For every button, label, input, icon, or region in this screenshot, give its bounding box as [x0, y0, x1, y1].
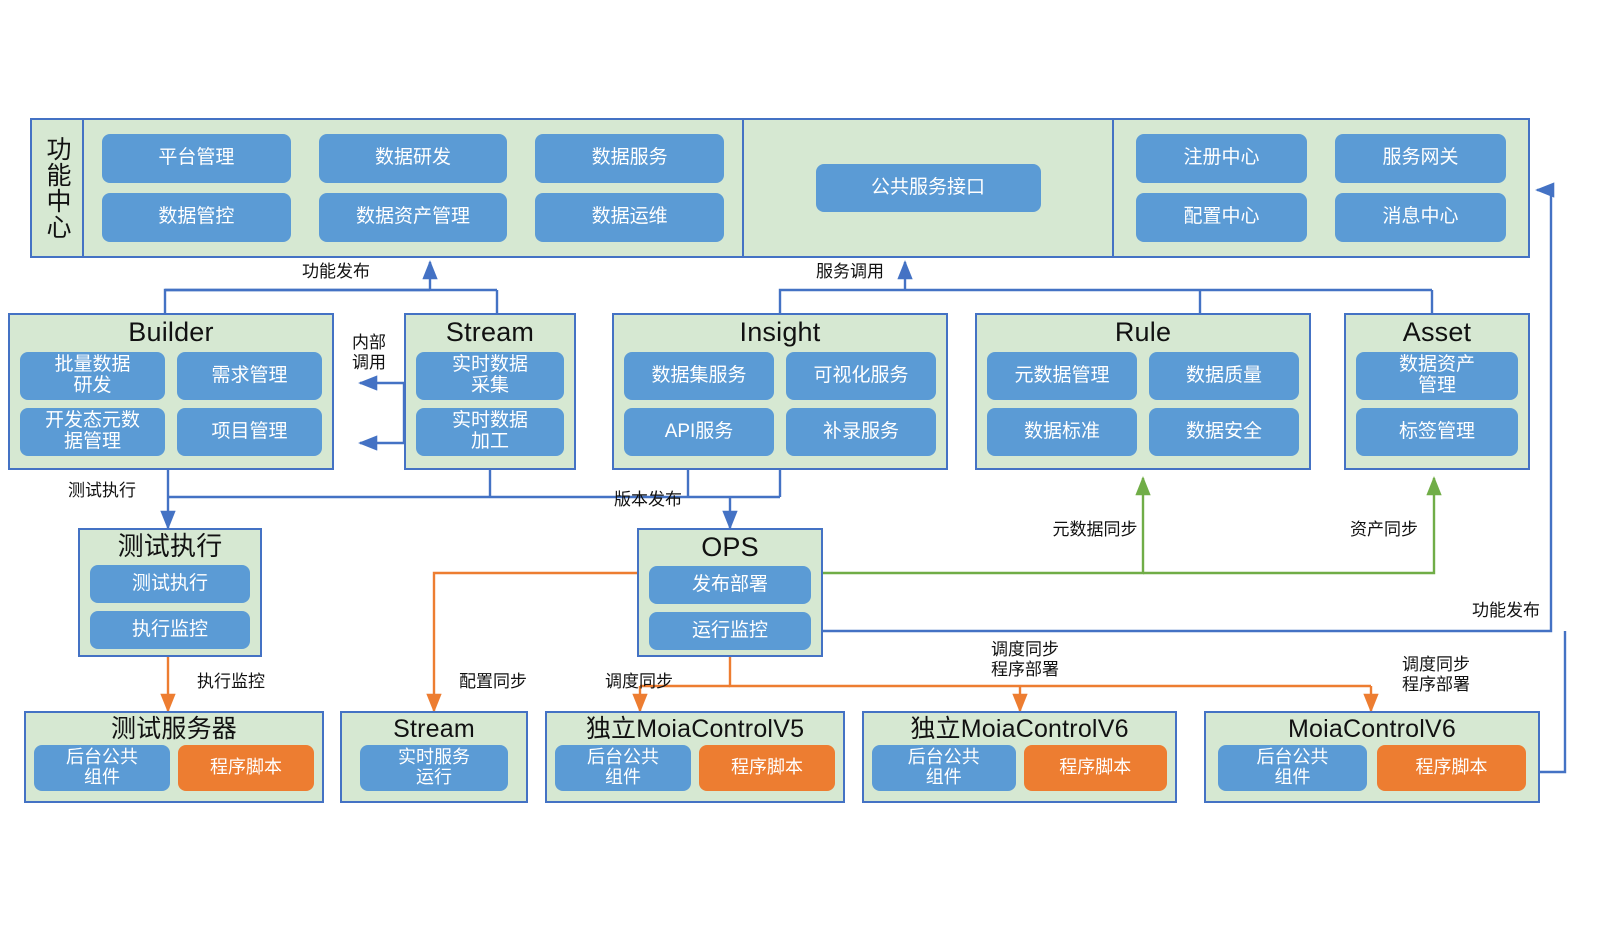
- insight-item-supplement-service[interactable]: 补录服务: [786, 408, 936, 456]
- label-exec-monitor: 执行监控: [176, 672, 286, 692]
- module-builder-title: Builder: [10, 315, 332, 346]
- module-test-execution: 测试执行 测试执行 执行监控: [78, 528, 262, 657]
- rule-item-metadata-mgmt[interactable]: 元数据管理: [987, 352, 1137, 400]
- fc-item-data-ops[interactable]: 数据运维: [535, 193, 724, 242]
- module-stream: Stream 实时数据 采集 实时数据 加工: [404, 313, 576, 470]
- builder-item-dev-metadata-mgmt[interactable]: 开发态元数 据管理: [20, 408, 165, 456]
- moia-v6-std-item-common-component[interactable]: 后台公共 组件: [872, 745, 1016, 791]
- moia-v6-item-script[interactable]: 程序脚本: [1377, 745, 1526, 791]
- server-test-server-title: 测试服务器: [26, 713, 322, 742]
- stream-server-item-realtime-run[interactable]: 实时服务 运行: [360, 745, 508, 791]
- server-stream: Stream 实时服务 运行: [340, 711, 528, 803]
- label-feature-publish-right: 功能发布: [1420, 601, 1540, 621]
- fc-item-platform-mgmt[interactable]: 平台管理: [102, 134, 291, 183]
- architecture-diagram: 功能中心 平台管理 数据研发 数据服务 数据管控 数据资产管理 数据运维 公共服…: [0, 0, 1611, 940]
- label-config-sync: 配置同步: [443, 672, 543, 692]
- test-server-item-common-component[interactable]: 后台公共 组件: [34, 745, 170, 791]
- module-ops-title: OPS: [639, 530, 821, 561]
- moia-v5-item-common-component[interactable]: 后台公共 组件: [555, 745, 691, 791]
- wire-builder-to-bus: [165, 290, 497, 313]
- fc-item-message-center[interactable]: 消息中心: [1335, 193, 1506, 242]
- server-moiacontrol-v6-standalone-title: 独立MoiaControlV6: [864, 713, 1175, 742]
- label-asset-sync: 资产同步: [1330, 520, 1438, 540]
- server-moiacontrol-v5-standalone: 独立MoiaControlV5 后台公共 组件 程序脚本: [545, 711, 845, 803]
- module-test-execution-title: 测试执行: [80, 530, 260, 560]
- fc-item-data-asset-mgmt[interactable]: 数据资产管理: [319, 193, 508, 242]
- fc-item-service-gateway[interactable]: 服务网关: [1335, 134, 1506, 183]
- module-asset-title: Asset: [1346, 315, 1528, 346]
- fc-item-config-center[interactable]: 配置中心: [1136, 193, 1307, 242]
- fc-item-public-service-api[interactable]: 公共服务接口: [816, 164, 1041, 212]
- insight-item-api-service[interactable]: API服务: [624, 408, 774, 456]
- insight-item-dataset-service[interactable]: 数据集服务: [624, 352, 774, 400]
- label-service-call: 服务调用: [795, 262, 905, 282]
- server-moiacontrol-v6-standalone: 独立MoiaControlV6 后台公共 组件 程序脚本: [862, 711, 1177, 803]
- label-feature-publish-top: 功能发布: [281, 262, 391, 282]
- server-moiacontrol-v6-title: MoiaControlV6: [1206, 713, 1538, 742]
- test-exec-item-run[interactable]: 测试执行: [90, 565, 250, 603]
- function-center-left-group: 平台管理 数据研发 数据服务 数据管控 数据资产管理 数据运维: [82, 120, 742, 256]
- module-asset: Asset 数据资产 管理 标签管理: [1344, 313, 1530, 470]
- ops-item-runtime-monitor[interactable]: 运行监控: [649, 612, 811, 650]
- label-test-execute: 测试执行: [68, 481, 178, 501]
- fc-item-data-dev[interactable]: 数据研发: [319, 134, 508, 183]
- stream-item-realtime-collect[interactable]: 实时数据 采集: [416, 352, 564, 400]
- ops-item-release-deploy[interactable]: 发布部署: [649, 566, 811, 604]
- server-moiacontrol-v6: MoiaControlV6 后台公共 组件 程序脚本: [1204, 711, 1540, 803]
- server-stream-title: Stream: [342, 713, 526, 742]
- stream-item-realtime-process[interactable]: 实时数据 加工: [416, 408, 564, 456]
- function-center-middle-group: 公共服务接口: [742, 120, 1112, 256]
- asset-item-data-asset-mgmt[interactable]: 数据资产 管理: [1356, 352, 1518, 400]
- function-center-label: 功能中心: [32, 120, 82, 256]
- fc-item-data-service[interactable]: 数据服务: [535, 134, 724, 183]
- function-center-right-group: 注册中心 服务网关 配置中心 消息中心: [1112, 120, 1528, 256]
- module-insight-title: Insight: [614, 315, 946, 346]
- module-stream-title: Stream: [406, 315, 574, 346]
- module-insight: Insight 数据集服务 可视化服务 API服务 补录服务: [612, 313, 948, 470]
- wire-server-up-right: [1540, 631, 1565, 772]
- label-metadata-sync: 元数据同步: [1035, 520, 1155, 540]
- label-schedule-deploy-right: 调度同步 程序部署: [1376, 655, 1496, 695]
- label-internal-call: 内部 调用: [338, 333, 400, 373]
- builder-item-batch-data-dev[interactable]: 批量数据 研发: [20, 352, 165, 400]
- fc-item-registry-center[interactable]: 注册中心: [1136, 134, 1307, 183]
- builder-item-requirement-mgmt[interactable]: 需求管理: [177, 352, 322, 400]
- moia-v6-std-item-script[interactable]: 程序脚本: [1024, 745, 1168, 791]
- server-moiacontrol-v5-title: 独立MoiaControlV5: [547, 713, 843, 742]
- server-test-server: 测试服务器 后台公共 组件 程序脚本: [24, 711, 324, 803]
- moia-v5-item-script[interactable]: 程序脚本: [699, 745, 835, 791]
- moia-v6-item-common-component[interactable]: 后台公共 组件: [1218, 745, 1367, 791]
- builder-item-project-mgmt[interactable]: 项目管理: [177, 408, 322, 456]
- module-rule: Rule 元数据管理 数据质量 数据标准 数据安全: [975, 313, 1311, 470]
- label-schedule-sync: 调度同步: [589, 672, 689, 692]
- test-exec-item-monitor[interactable]: 执行监控: [90, 611, 250, 649]
- fc-item-data-control[interactable]: 数据管控: [102, 193, 291, 242]
- label-schedule-deploy-mid: 调度同步 程序部署: [965, 640, 1085, 680]
- rule-item-data-quality[interactable]: 数据质量: [1149, 352, 1299, 400]
- wire-internal-call-2: [360, 383, 404, 443]
- insight-item-visualization-service[interactable]: 可视化服务: [786, 352, 936, 400]
- rule-item-data-standard[interactable]: 数据标准: [987, 408, 1137, 456]
- rule-item-data-security[interactable]: 数据安全: [1149, 408, 1299, 456]
- test-server-item-script[interactable]: 程序脚本: [178, 745, 314, 791]
- module-rule-title: Rule: [977, 315, 1309, 346]
- label-version-release: 版本发布: [603, 490, 693, 510]
- module-builder: Builder 批量数据 研发 需求管理 开发态元数 据管理 项目管理: [8, 313, 334, 470]
- asset-item-tag-mgmt[interactable]: 标签管理: [1356, 408, 1518, 456]
- module-ops: OPS 发布部署 运行监控: [637, 528, 823, 657]
- function-center-panel: 功能中心 平台管理 数据研发 数据服务 数据管控 数据资产管理 数据运维 公共服…: [30, 118, 1530, 258]
